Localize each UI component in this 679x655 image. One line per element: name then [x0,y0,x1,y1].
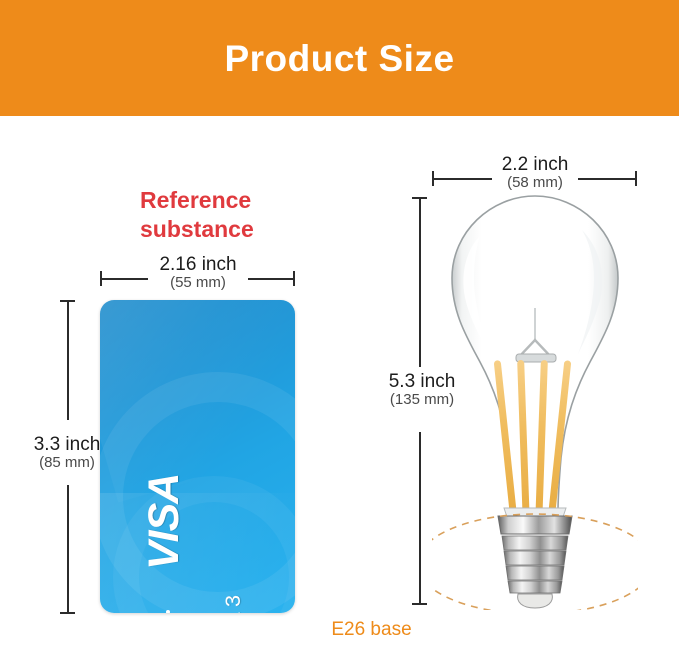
product-size-infographic: Product Size Reference substance 2.16 in… [0,0,679,655]
reference-substance-label-line1: Reference [140,186,370,215]
card-width-endcap-right [293,271,295,286]
bulb-width-endcap-right [635,171,637,186]
bulb-svg [432,190,638,610]
card-height-endcap-bottom [60,612,75,614]
page-title: Product Size [224,40,454,77]
card-width-inch: 2.16 inch [138,255,258,275]
bulb-width-mm: (58 mm) [474,175,596,192]
bulb-height-dimension-line-top [419,197,421,367]
card-width-endcap-left [100,271,102,286]
credit-card-image: VISA 4000 2331 5875 613 GOOD THRU 12/18 … [100,300,295,613]
visa-logo: VISA [140,474,189,570]
bulb-width-inch: 2.2 inch [474,155,596,175]
base-collar [498,516,572,534]
bulb-height-endcap-bottom [412,603,427,605]
led-bulb-image [432,190,638,610]
bulb-width-endcap-left [432,171,434,186]
header-banner: Product Size [0,0,679,116]
e26-screw-threads [502,536,568,593]
bulb-height-endcap-top [412,197,427,199]
e26-base-label: E26 base [0,620,679,639]
card-height-dimension-line-top [67,300,69,420]
card-width-measurement: 2.16 inch (55 mm) [138,255,258,291]
card-bottom-band [100,493,295,613]
card-number: 4000 2331 5875 613 [222,590,247,613]
bulb-width-measurement: 2.2 inch (58 mm) [474,155,596,191]
card-height-endcap-top [60,300,75,302]
visa-registered-dot [166,610,170,613]
bulb-top-gloss [498,226,558,258]
e26-base-label-text: E26 base [331,619,411,640]
card-width-mm: (55 mm) [138,275,258,292]
reference-substance-label: Reference substance [140,186,370,244]
base-foot-contact [518,594,553,608]
bulb-height-dimension-line-bottom [419,432,421,605]
reference-substance-label-line2: substance [140,215,370,244]
card-height-dimension-line-bottom [67,485,69,614]
